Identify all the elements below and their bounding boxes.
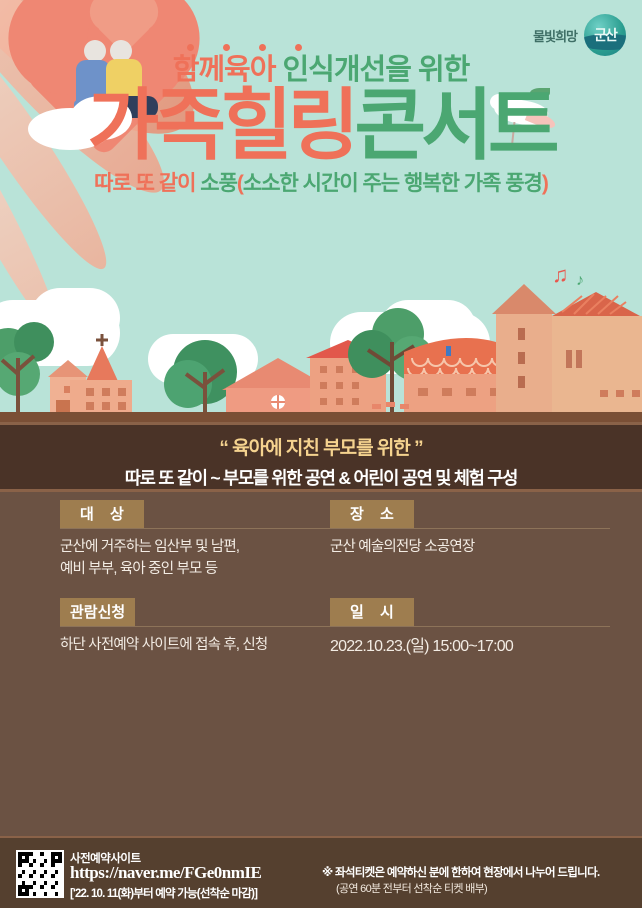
info-block-target: 대 상 군산에 거주하는 임산부 및 남편, 예비 부부, 육아 중인 부모 등 [60, 500, 340, 581]
qr-code-icon[interactable] [16, 850, 64, 898]
info-block-venue: 장 소 군산 예술의전당 소공연장 [330, 500, 610, 559]
info-label-target: 대 상 [60, 500, 144, 528]
label-underline [60, 626, 340, 627]
label-underline [330, 528, 610, 529]
info-value-venue: 군산 예술의전당 소공연장 [330, 537, 610, 559]
ground-strip [0, 412, 642, 422]
music-note-icon: ♫ [552, 262, 569, 288]
reservation-url-link[interactable]: https://naver.me/FGe0nmIE [70, 863, 261, 883]
quote-banner: “ 육아에 지친 부모를 위한 ” 따로 또 같이 ~ 부모를 위한 공연 & … [0, 422, 642, 492]
info-value-registration: 하단 사전예약 사이트에 접속 후, 신청 [60, 635, 340, 657]
title-kicker: 함께육아 인식개선을 위한 [173, 56, 470, 85]
page-title: 가족힐링콘서트 [0, 87, 642, 163]
event-poster: ♫ ♪ 물빛희망 군산 함께육아 인식개선을 위한 가족힐링콘서트 따로 또 같… [0, 0, 642, 908]
ticket-notice-line2: (공연 60분 전부터 선착순 티켓 배부) [336, 880, 487, 896]
gunsan-city-logo: 물빛희망 군산 [533, 14, 626, 56]
subtitle-part2: 소풍 [200, 172, 237, 195]
gunsan-logo-mark-icon: 군산 [584, 14, 626, 56]
title-kicker-highlight: 함께육아 [173, 54, 276, 86]
banner-subline-text: 따로 또 같이 ~ 부모를 위한 공연 & 어린이 공연 및 체험 구성 [0, 465, 642, 490]
subtitle-part3: 소소한 시간이 주는 행복한 가족 풍경 [243, 172, 542, 195]
label-underline [330, 626, 610, 627]
info-value-datetime: 2022.10.23.(일) 15:00~17:00 [330, 635, 610, 659]
banner-quote-text: “ 육아에 지친 부모를 위한 ” [0, 433, 642, 460]
village-svg [0, 262, 642, 422]
title-main-part2: 콘서트 [354, 81, 554, 169]
info-label-venue: 장 소 [330, 500, 414, 528]
village-illustration [0, 262, 642, 422]
ticket-notice-line1: ※ 좌석티켓은 예약하신 분에 한하여 현장에서 나누어 드립니다. [322, 864, 599, 880]
info-label-registration: 관람신청 [60, 598, 135, 626]
reservation-availability-note: ['22. 10. 11(화)부터 예약 가능(선착순 마감)] [70, 885, 257, 901]
logo-slogan-text: 물빛희망 [533, 26, 577, 45]
music-note-icon: ♪ [576, 272, 584, 290]
title-subtitle: 따로 또 같이 소풍(소소한 시간이 주는 행복한 가족 풍경) [0, 167, 642, 197]
poster-footer: 사전예약사이트 https://naver.me/FGe0nmIE ['22. … [0, 836, 642, 908]
info-block-registration: 관람신청 하단 사전예약 사이트에 접속 후, 신청 [60, 598, 340, 657]
logo-mark-label: 군산 [584, 14, 626, 56]
info-block-datetime: 일 시 2022.10.23.(일) 15:00~17:00 [330, 598, 610, 659]
info-label-datetime: 일 시 [330, 598, 414, 626]
info-value-target: 군산에 거주하는 임산부 및 남편, 예비 부부, 육아 중인 부모 등 [60, 537, 340, 581]
subtitle-paren-close: ) [542, 172, 548, 195]
title-main-part1: 가족힐링 [87, 81, 354, 169]
title-kicker-rest: 인식개선을 위한 [282, 54, 469, 86]
poster-title-block: 함께육아 인식개선을 위한 가족힐링콘서트 따로 또 같이 소풍(소소한 시간이… [0, 56, 642, 197]
subtitle-part1: 따로 또 같이 [94, 172, 195, 195]
label-underline [60, 528, 340, 529]
emphasis-dots-decoration [181, 44, 321, 54]
